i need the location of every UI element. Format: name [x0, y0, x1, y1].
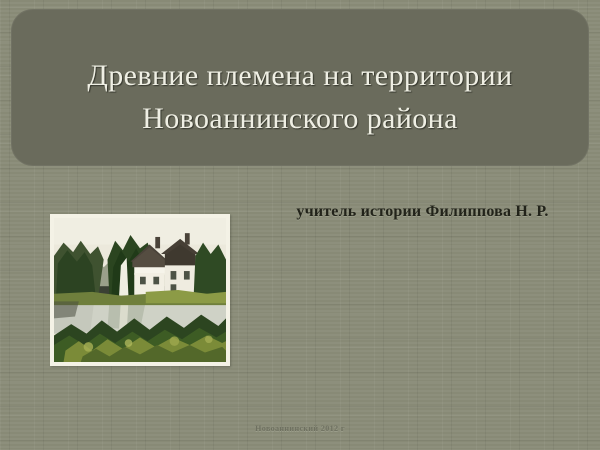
- landscape-painting-graphic: [54, 218, 226, 362]
- presentation-slide: МБОУ Новоаннинская СОШ №1 Древние племен…: [0, 0, 600, 450]
- title-block: Древние племена на территории Новоаннинс…: [11, 55, 589, 140]
- slide-title-line-1: Древние племена на территории: [23, 55, 577, 98]
- title-banner: Древние племена на территории Новоаннинс…: [11, 9, 589, 166]
- landscape-painting-image: [54, 218, 226, 362]
- author-credit: учитель истории Филиппова Н. Р.: [255, 203, 590, 221]
- slide-title-line-2: Новоаннинского района: [23, 98, 577, 141]
- picture-frame: [50, 214, 230, 366]
- footer-place-year: Новоаннинский 2012 г: [0, 424, 600, 433]
